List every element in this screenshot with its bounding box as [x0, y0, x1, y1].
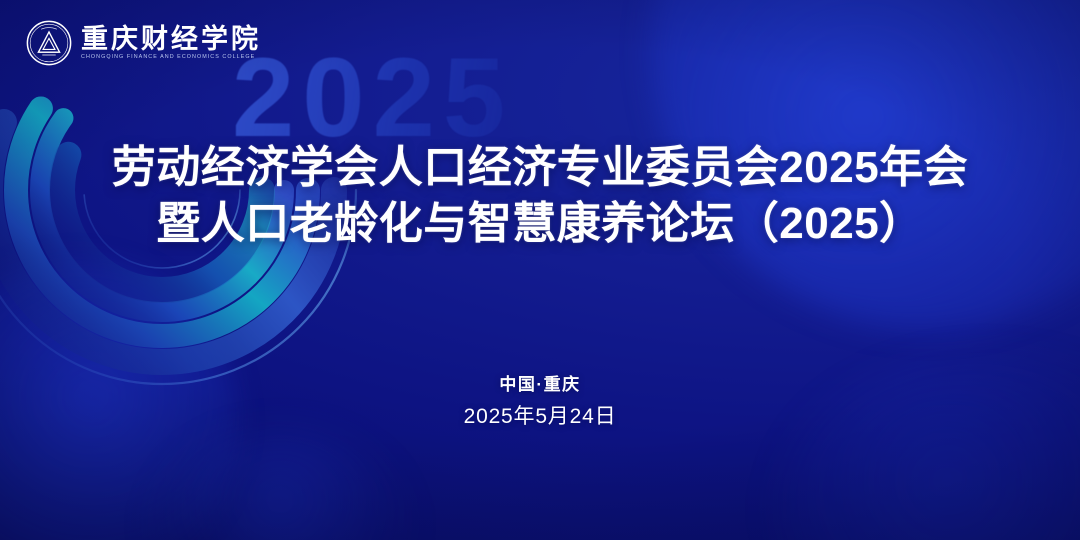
background-vignette [0, 0, 1080, 540]
conference-title: 劳动经济学会人口经济专业委员会2025年会 暨人口老龄化与智慧康养论坛（2025… [0, 140, 1080, 253]
conference-meta: 中国·重庆 2025年5月24日 [0, 372, 1080, 432]
conference-date: 2025年5月24日 [0, 401, 1080, 433]
title-line-2: 暨人口老龄化与智慧康养论坛（2025） [0, 196, 1080, 252]
university-crest-icon [26, 20, 72, 66]
logo-text-block: 重庆财经学院 CHONGQING FINANCE AND ECONOMICS C… [81, 26, 261, 60]
logo-name-en: CHONGQING FINANCE AND ECONOMICS COLLEGE [81, 55, 261, 61]
title-line-1: 劳动经济学会人口经济专业委员会2025年会 [0, 140, 1080, 196]
university-logo: 重庆财经学院 CHONGQING FINANCE AND ECONOMICS C… [26, 20, 261, 66]
logo-name-cn: 重庆财经学院 [81, 26, 261, 53]
conference-location: 中国·重庆 [0, 372, 1080, 398]
conference-banner: 2025 重庆财经学院 CHONGQING FINANCE AND ECONOM… [0, 0, 1080, 540]
